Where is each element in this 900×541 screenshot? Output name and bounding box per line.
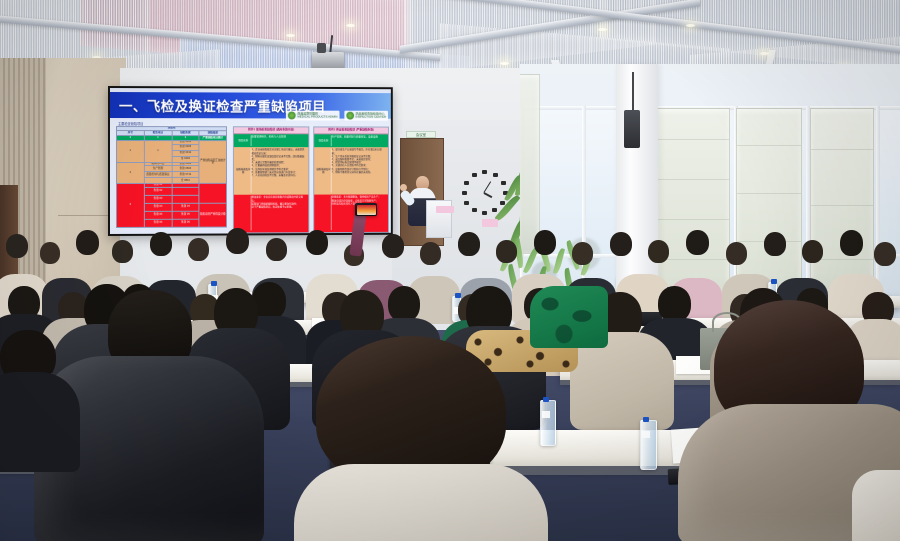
panel-value: 1、企业未按照规定对关键工序进行确认，未能提供相应验证记录； 2、物料仓储区温湿… bbox=[252, 148, 307, 193]
panel-key: 项目名称 bbox=[316, 135, 332, 146]
meeting-room-photo: 会议室 bbox=[0, 0, 900, 541]
logo-2-line2: INSPECTION CENTER bbox=[356, 115, 387, 119]
presentation-screen[interactable]: 一、飞检及换证检查严重缺陷项目 药品监督管理局 MEDICAL PRODUCTS… bbox=[108, 86, 393, 236]
leaf-emblem-icon bbox=[288, 112, 296, 120]
ceiling-light bbox=[286, 34, 295, 37]
panel-key bbox=[316, 196, 332, 231]
edge-attendee-left bbox=[0, 330, 72, 470]
panel-value: 生产管理、质量控制与质量保证、设备设施 bbox=[332, 135, 386, 146]
panel-key: 缺陷描述及问题 bbox=[236, 148, 252, 193]
panel-1-row-tan: 缺陷描述及问题 1、企业未按照规定对关键工序进行确认，未能提供相应验证记录； 2… bbox=[234, 147, 308, 195]
edge-attendee-right bbox=[852, 470, 900, 541]
water-bottle[interactable] bbox=[640, 420, 657, 470]
logo-1: 药品监督管理局 MEDICAL PRODUCTS ADMIN bbox=[286, 111, 339, 121]
attachment-panel-2: 附件2 换证检查缺陷项 (严重缺陷条款) 项目名称 生产管理、质量控制与质量保证… bbox=[313, 126, 389, 233]
panel-key: 缺陷描述及问题 bbox=[316, 148, 332, 192]
logo-2: 药品审核查验检验中心 INSPECTION CENTER bbox=[344, 111, 388, 121]
cell bbox=[172, 188, 199, 196]
cell: 条款 03 bbox=[144, 196, 172, 204]
presenter-hand bbox=[400, 184, 407, 191]
ceiling-light bbox=[760, 52, 769, 55]
wall-speaker bbox=[624, 110, 640, 148]
defect-summary-table: 缺陷项 序号 检查项目 缺陷条款 缺陷描述 1 1 1 严重缺陷项目统计 1 1 bbox=[116, 126, 227, 228]
cell: 条款 02 bbox=[144, 188, 172, 196]
cell: 条款 04 bbox=[144, 203, 172, 211]
cell: 缺陷项目严重程度分级 bbox=[199, 203, 226, 227]
panel-1-row-green: 项目名称 质量管理体系、机构与人员管理 bbox=[234, 134, 308, 147]
ceiling-light bbox=[686, 24, 695, 27]
attendee-head bbox=[226, 228, 249, 254]
ceiling-light bbox=[598, 28, 607, 31]
lectern-sign-right bbox=[482, 219, 498, 227]
attachment-panel-1: 附件1 现场检查缺陷项 (通用条款内容) 项目名称 质量管理体系、机构与人员管理… bbox=[233, 126, 309, 233]
window-blind[interactable] bbox=[520, 74, 540, 254]
panel-key: 项目名称 bbox=[236, 135, 252, 146]
panel-value: 质量管理体系、机构与人员管理 bbox=[252, 135, 307, 146]
cell: 2 bbox=[116, 162, 144, 184]
cell: 严重缺陷项目汇总统计表 bbox=[199, 141, 226, 184]
panel-value: 1、部分批生产记录填写不规范，存在事后补记现象； 2、生产用水系统消毒验证记录不… bbox=[332, 148, 386, 192]
attendee-body bbox=[294, 464, 548, 541]
cell bbox=[199, 184, 226, 204]
ceiling-light bbox=[346, 24, 355, 27]
speaker-wire bbox=[632, 72, 634, 112]
cell: 条款 05 bbox=[172, 211, 199, 219]
cell: 1 bbox=[144, 141, 172, 163]
org-logos: 药品监督管理局 MEDICAL PRODUCTS ADMIN 药品审核查验检验中… bbox=[286, 111, 388, 121]
cell: 条款 04 bbox=[172, 203, 199, 211]
smartphone-taking-photo[interactable] bbox=[355, 203, 377, 216]
panel-2-row-green: 项目名称 生产管理、质量控制与质量保证、设备设施 bbox=[314, 134, 388, 147]
logo-1-line2: MEDICAL PRODUCTS ADMIN bbox=[297, 115, 337, 119]
panel-1-row-red: 整改要求：企业应在规定期限内完成整改并提交报告； 监管部门将组织跟踪检查，确认整… bbox=[234, 194, 308, 232]
slide-content: 一、飞检及换证检查严重缺陷项目 药品监督管理局 MEDICAL PRODUCTS… bbox=[110, 88, 391, 234]
leaf-emblem-icon bbox=[346, 112, 354, 120]
podium-sign bbox=[436, 206, 454, 213]
attendee-body bbox=[0, 372, 80, 472]
panel-key bbox=[236, 196, 252, 231]
cell bbox=[172, 195, 199, 203]
cell: 条款 05 bbox=[144, 211, 172, 219]
cell: 3 bbox=[116, 184, 144, 228]
cell: 1 bbox=[116, 141, 144, 163]
panel-2-row-tan: 缺陷描述及问题 1、部分批生产记录填写不规范，存在事后补记现象； 2、生产用水系… bbox=[314, 147, 388, 194]
front-attendee-long-hair bbox=[298, 336, 548, 541]
panel-value: 整改要求：企业应在规定期限内完成整改并提交报告； 监管部门将组织跟踪检查，确认整… bbox=[252, 196, 307, 231]
ceiling-light bbox=[500, 62, 509, 65]
door-sign: 会议室 bbox=[406, 131, 436, 138]
cell: 条款 06 bbox=[144, 219, 172, 227]
cell: 条款 06 bbox=[172, 219, 199, 227]
